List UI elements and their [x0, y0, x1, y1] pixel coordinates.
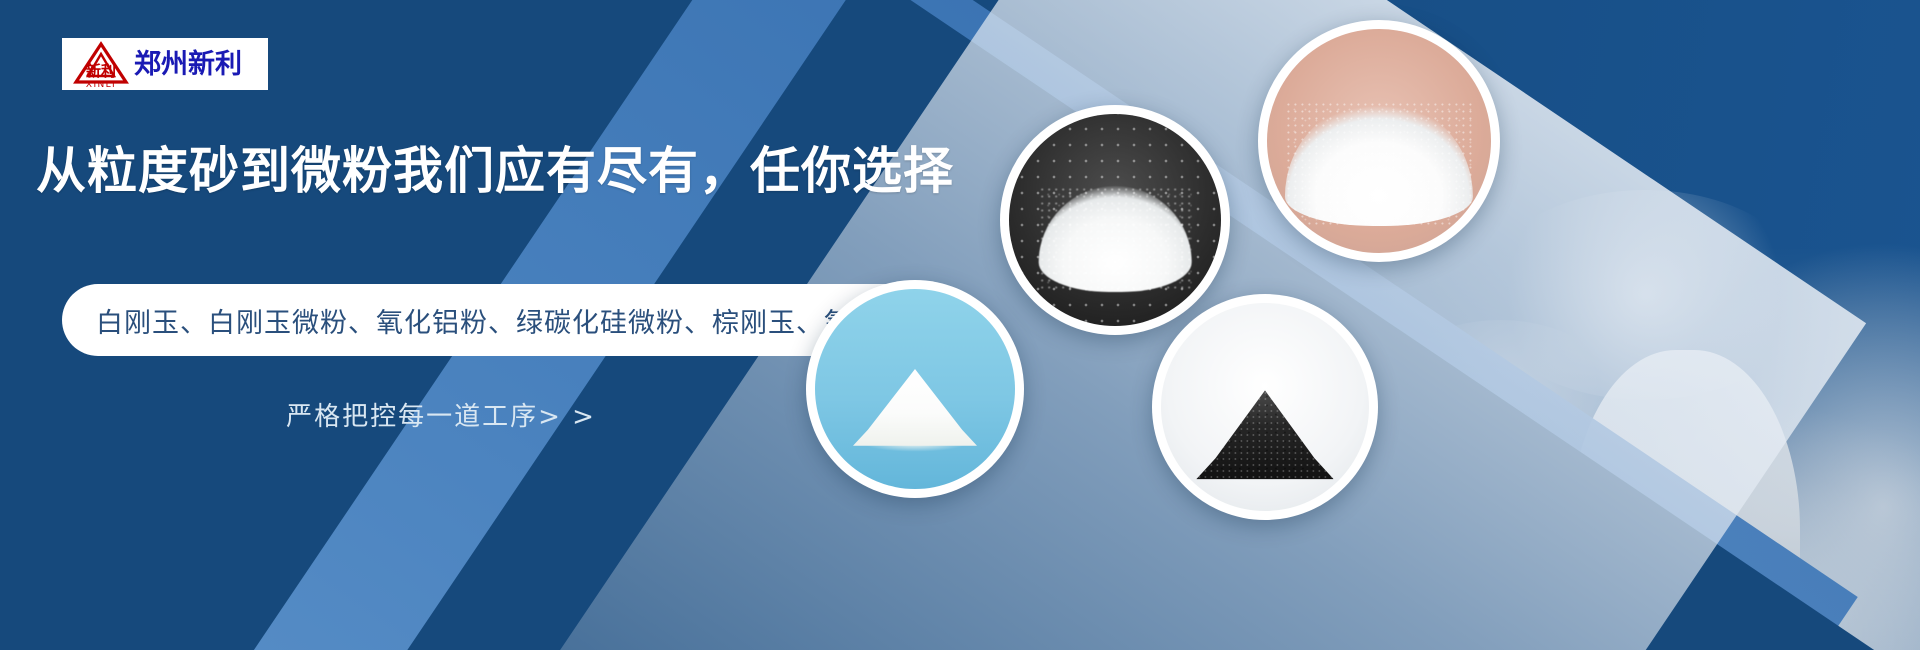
xinli-triangle-icon: 新利 XINLI: [70, 40, 132, 88]
product-image-alumina-powder-cone: [806, 280, 1024, 498]
product-image-white-fused-alumina-sand: [1000, 105, 1230, 335]
svg-text:XINLI: XINLI: [86, 80, 116, 88]
company-logo[interactable]: 新利 XINLI 郑州新利: [62, 38, 268, 90]
headline: 从粒度砂到微粉我们应有尽有，任你选择: [36, 143, 954, 199]
promo-banner: 新利 XINLI 郑州新利 从粒度砂到微粉我们应有尽有，任你选择 白刚玉、白刚玉…: [0, 0, 1920, 650]
product-image-black-silicon-carbide-grit: [1152, 294, 1378, 520]
logo-company-name: 郑州新利: [134, 51, 242, 78]
svg-text:新利: 新利: [86, 62, 116, 80]
tagline-link[interactable]: 严格把控每一道工序> >: [62, 396, 820, 433]
product-image-white-alumina-powder: [1258, 20, 1500, 262]
product-list-text: 白刚玉、白刚玉微粉、氧化铝粉、绿碳化硅微粉、棕刚玉、氧化锆等: [96, 301, 936, 340]
